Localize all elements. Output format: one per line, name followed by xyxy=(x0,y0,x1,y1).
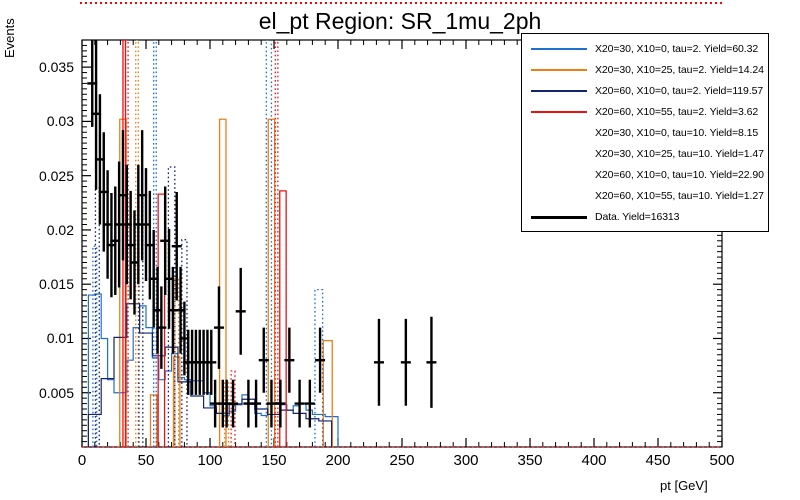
legend-item-label: X20=30, X10=25, tau=2. Yield=14.24 xyxy=(595,64,764,76)
legend-item[interactable]: X20=30, X10=25, tau=2. Yield=14.24 xyxy=(522,59,768,80)
legend-item-label: Data. Yield=16313 xyxy=(595,211,679,223)
legend-item[interactable]: X20=60, X10=0, tau=10. Yield=22.90 xyxy=(522,164,768,185)
legend-item-label: X20=60, X10=0, tau=2. Yield=119.57 xyxy=(595,85,763,97)
legend-item[interactable]: X20=60, X10=0, tau=2. Yield=119.57 xyxy=(522,80,768,101)
legend-item-label: X20=60, X10=55, tau=2. Yield=3.62 xyxy=(595,106,758,118)
legend-item-label: X20=60, X10=55, tau=10. Yield=1.27 xyxy=(595,190,764,202)
plot-canvas: el_pt Region: SR_1mu_2ph Events pt [GeV]… xyxy=(0,0,800,500)
legend-item[interactable]: X20=60, X10=55, tau=2. Yield=3.62 xyxy=(522,101,768,122)
legend-item-label: X20=30, X10=0, tau=10. Yield=8.15 xyxy=(595,127,758,139)
legend-item[interactable]: X20=30, X10=0, tau=2. Yield=60.32 xyxy=(522,38,768,59)
legend-item[interactable]: X20=60, X10=55, tau=10. Yield=1.27 xyxy=(522,185,768,206)
legend-item-label: X20=30, X10=0, tau=2. Yield=60.32 xyxy=(595,43,758,55)
legend-item-label: X20=30, X10=25, tau=10. Yield=1.47 xyxy=(595,148,764,160)
legend-box[interactable]: X20=30, X10=0, tau=2. Yield=60.32X20=30,… xyxy=(521,33,769,232)
legend-item[interactable]: Data. Yield=16313 xyxy=(522,206,768,227)
legend-item[interactable]: X20=30, X10=0, tau=10. Yield=8.15 xyxy=(522,122,768,143)
legend-item-label: X20=60, X10=0, tau=10. Yield=22.90 xyxy=(595,169,764,181)
legend-item[interactable]: X20=30, X10=25, tau=10. Yield=1.47 xyxy=(522,143,768,164)
